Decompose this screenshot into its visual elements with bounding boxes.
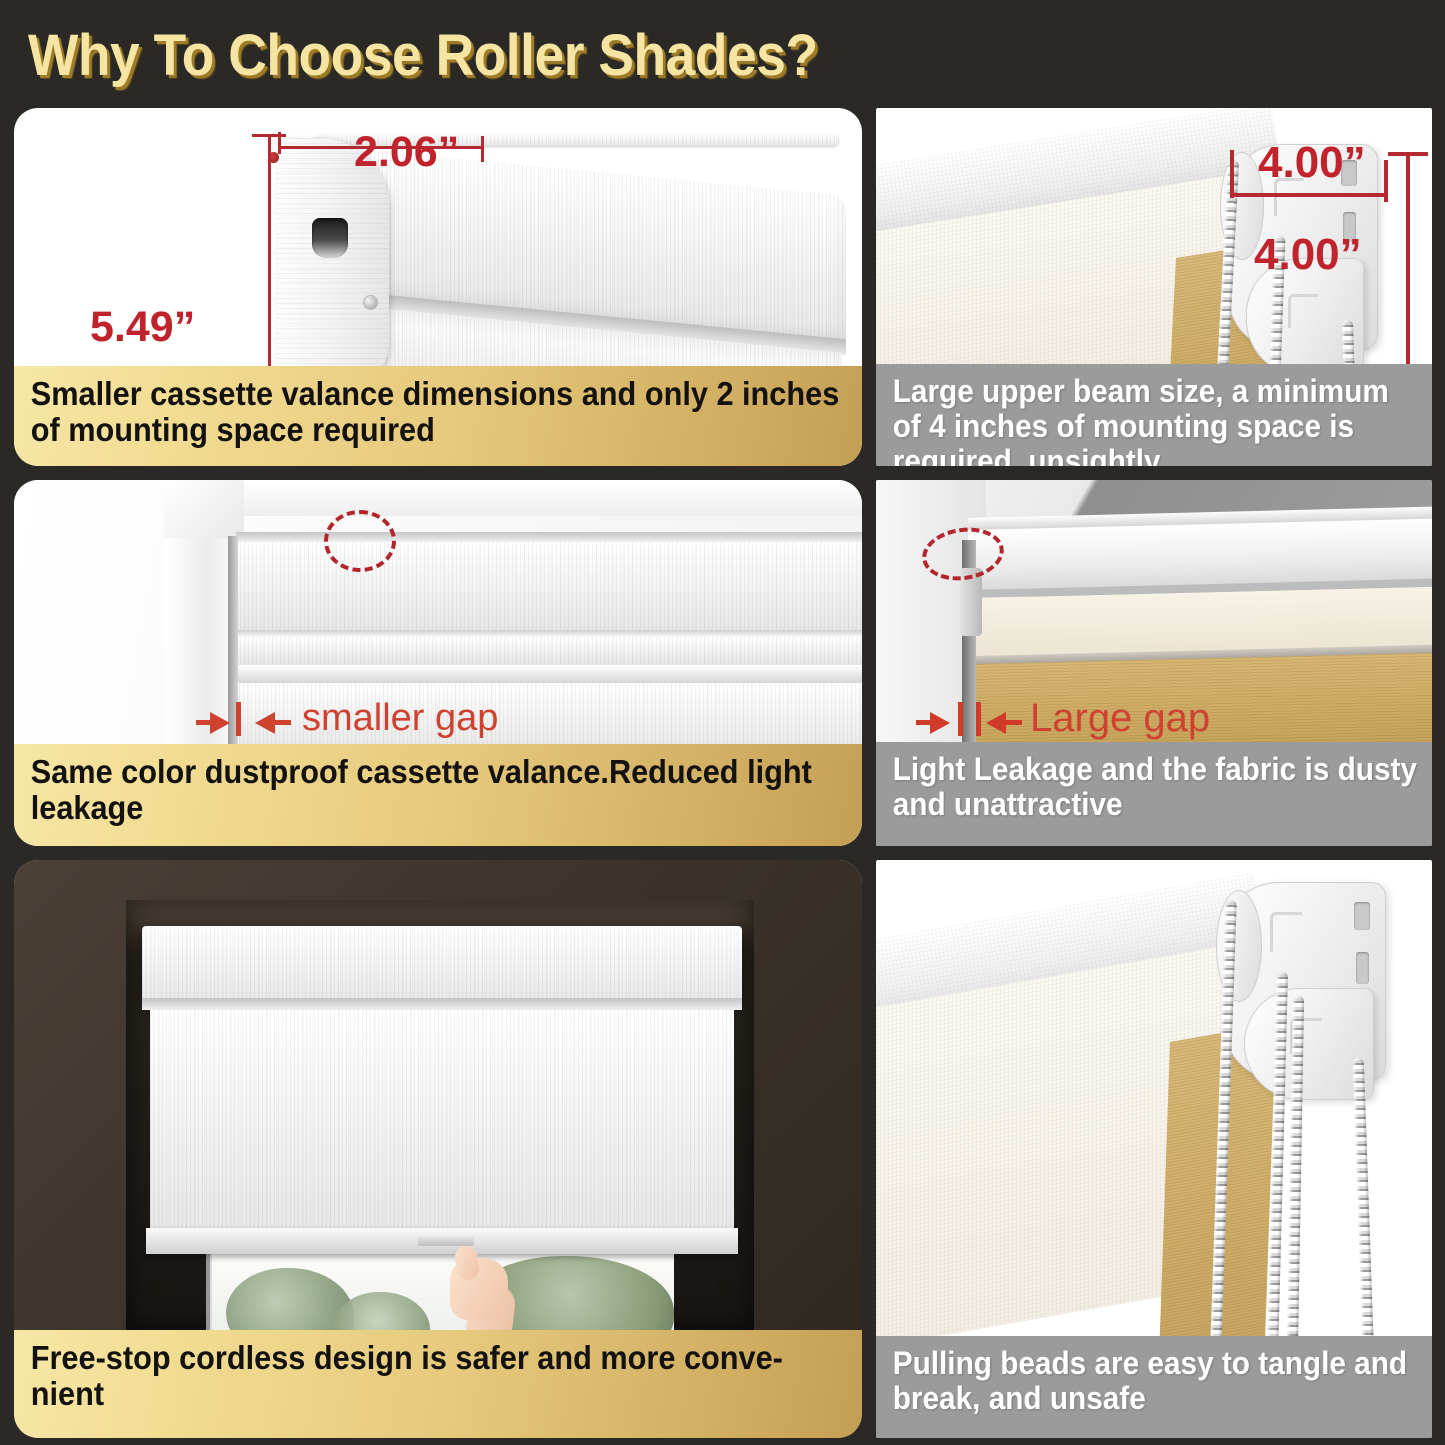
gap-arrow-left-tail <box>916 720 934 725</box>
gap-arrow-left-tail <box>196 720 214 725</box>
bracket-slot-top <box>1354 902 1370 930</box>
dimension-label-height: 5.49” <box>90 303 195 352</box>
dim-width-tick-left-2 <box>1230 150 1234 198</box>
bracket-slot-mid <box>1356 952 1369 984</box>
dim-width-tick-right <box>481 136 484 162</box>
dim-height-line-2 <box>1406 152 1410 382</box>
panel-4-caption: Light Leakage and the fabric is dusty an… <box>876 742 1432 846</box>
panel-pulling-beads: Pulling beads are easy to tangle and bre… <box>876 860 1432 1438</box>
panel-cordless-design: Free-stop cordless design is safer and m… <box>14 860 862 1438</box>
panel-6-caption: Pulling beads are easy to tangle and bre… <box>876 1336 1432 1438</box>
dim-width-line-2 <box>1232 193 1388 197</box>
window-casing-corner <box>164 480 244 538</box>
page-title: Why To Choose Roller Shades? <box>28 22 818 89</box>
dimension-label-width: 2.06” <box>354 128 459 177</box>
highlight-circle-icon <box>324 510 396 572</box>
dimension-label-height-2: 4.00” <box>1254 230 1362 280</box>
shade-fabric-seam <box>236 630 862 637</box>
panel-large-beam: 4.00” 4.00” Large upper beam size, a min… <box>876 108 1432 466</box>
gap-marker-bar <box>236 702 241 736</box>
bracket-emboss-lower <box>1288 294 1318 328</box>
panel-grid: 2.06” 5.49” Smaller cassette valance dim… <box>0 108 1445 1445</box>
panel-smaller-cassette: 2.06” 5.49” Smaller cassette valance dim… <box>14 108 862 466</box>
gap-arrow-right <box>255 712 275 734</box>
shade-head-rail <box>142 926 742 1004</box>
dim-height-tick-top-2 <box>1388 152 1428 156</box>
window-casing-top <box>164 480 862 516</box>
shade-head-lip <box>142 998 742 1010</box>
panel-light-leakage: Large gap Light Leakage and the fabric i… <box>876 480 1432 846</box>
panel-5-caption: Free-stop cordless design is safer and m… <box>14 1330 862 1438</box>
gap-arrow-right-tail <box>1004 720 1022 725</box>
infographic-root: Why To Choose Roller Shades? <box>0 0 1445 1445</box>
gap-arrow-right <box>986 712 1006 734</box>
dim-height-tick-top <box>252 134 286 137</box>
dim-width-tick-right-2 <box>1384 160 1388 202</box>
shade-fabric-body <box>150 1010 734 1232</box>
panel-dustproof-valance: smaller gap Same color dustproof cassett… <box>14 480 862 846</box>
panel-1-caption: Smaller cassette valance dimensions and … <box>14 366 862 466</box>
end-cap-bracket-slot <box>312 218 348 258</box>
gap-label-large: Large gap <box>1030 696 1210 741</box>
shade-bottom-rail <box>236 665 862 683</box>
shade-fabric-mid <box>236 637 862 665</box>
gap-arrow-right-tail <box>273 720 291 725</box>
gap-label-smaller: smaller gap <box>302 697 498 740</box>
end-cap-screw-lower <box>364 296 377 309</box>
panel-3-caption: Same color dustproof cassette valance.Re… <box>14 744 862 846</box>
panel-2-caption: Large upper beam size, a minimum of 4 in… <box>876 364 1432 466</box>
gap-marker-bar-b <box>976 702 981 736</box>
bracket-emboss-upper <box>1270 912 1302 952</box>
dimension-label-width-2: 4.00” <box>1258 138 1366 188</box>
bead-chain-right <box>1353 1058 1374 1358</box>
bottom-rail-grip-tab <box>418 1236 474 1246</box>
gap-marker-bar-a <box>958 702 963 736</box>
